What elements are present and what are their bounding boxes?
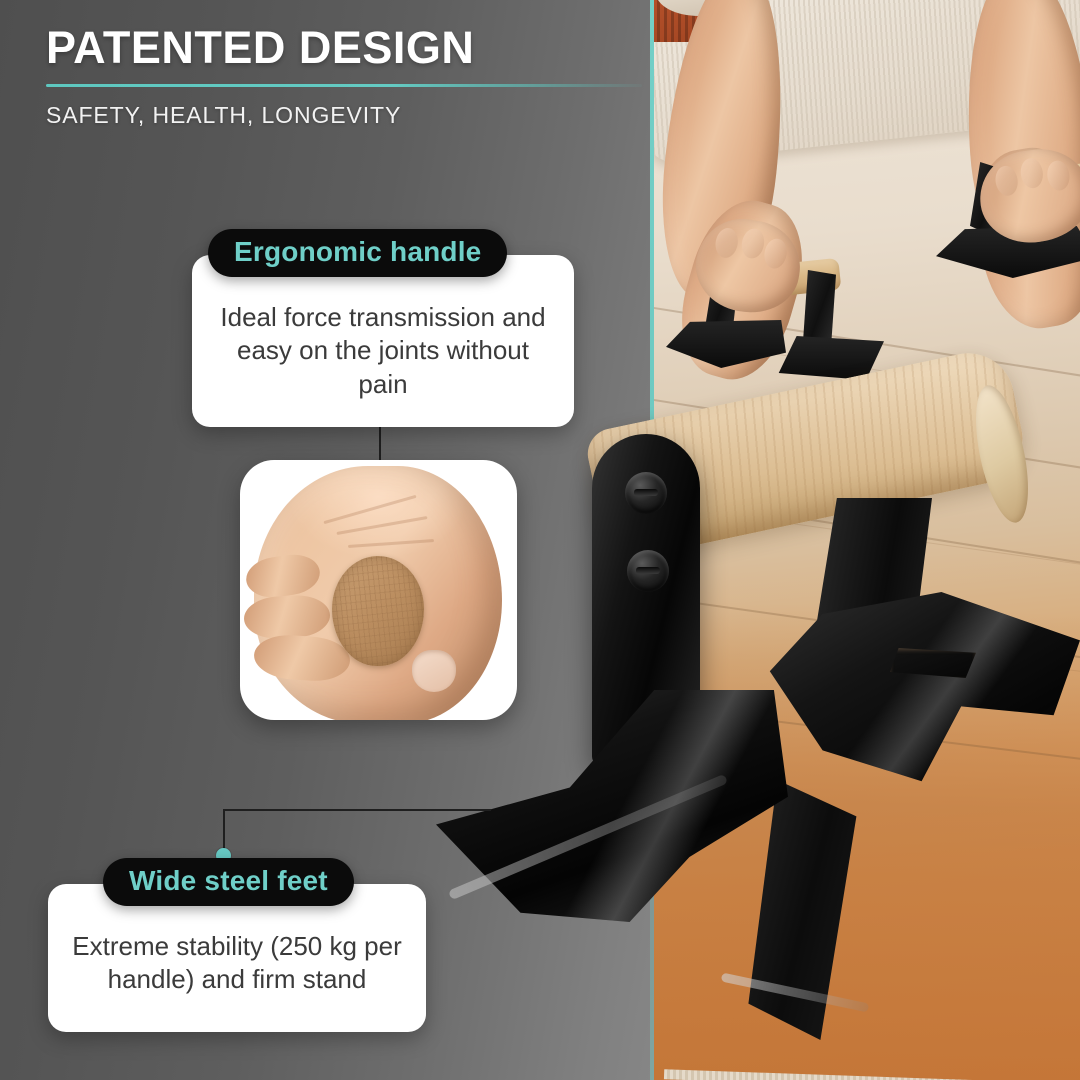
page-subtitle: SAFETY, HEALTH, LONGEVITY [46, 102, 646, 129]
knuckle [994, 164, 1020, 197]
knuckle [713, 226, 740, 259]
knuckle [762, 237, 789, 270]
rear-foot-highlight [750, 592, 1080, 812]
callout-card: Extreme stability (250 kg per handle) an… [48, 884, 426, 1032]
thumbnail [412, 650, 456, 692]
callout-body: Extreme stability (250 kg per handle) an… [72, 930, 402, 997]
bolt-screw-icon [625, 472, 667, 514]
callout-body: Ideal force transmission and easy on the… [216, 301, 550, 401]
callout-title-pill: Wide steel feet [103, 858, 354, 906]
header: PATENTED DESIGN SAFETY, HEALTH, LONGEVIT… [46, 24, 646, 129]
title-underline [46, 84, 642, 87]
callout-ergonomic-handle: Ideal force transmission and easy on the… [192, 255, 574, 427]
hand-grip-inset-photo [240, 460, 517, 720]
wooden-handle-face [332, 556, 424, 666]
knuckle [1045, 159, 1071, 192]
knuckle [1019, 157, 1045, 190]
connector-line [223, 809, 491, 811]
knuckle [740, 227, 767, 260]
bolt-screw-icon [627, 550, 669, 592]
product-infographic: PATENTED DESIGN SAFETY, HEALTH, LONGEVIT… [0, 0, 1080, 1080]
page-title: PATENTED DESIGN [46, 24, 646, 72]
callout-title-pill: Ergonomic handle [208, 229, 507, 277]
callout-wide-steel-feet: Extreme stability (250 kg per handle) an… [48, 884, 426, 1032]
hero-product-image [420, 380, 1080, 1080]
callout-card: Ideal force transmission and easy on the… [192, 255, 574, 427]
